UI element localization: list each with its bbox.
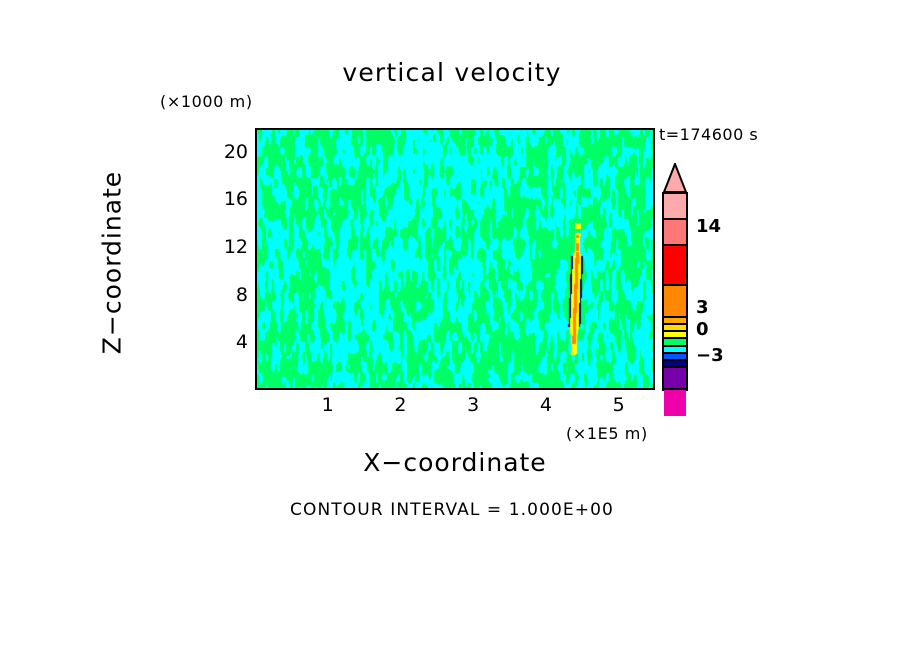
colorbar-tick-labels: 1430−3: [688, 163, 768, 391]
x-tick-label: 4: [526, 396, 566, 415]
colorbar-band: [664, 354, 686, 361]
colorbar-tick-label: 14: [696, 218, 721, 236]
contour-interval-label: CONTOUR INTERVAL = 1.000E+00: [0, 500, 904, 520]
colorbar-band: [664, 339, 686, 347]
colorbar-band: [664, 246, 686, 286]
x-tick-label: 3: [453, 396, 493, 415]
colorbar-band: [664, 368, 686, 390]
colorbar-tick-label: 3: [696, 299, 709, 317]
y-tick-label: 16: [224, 190, 248, 209]
colorbar-tick-label: 0: [696, 321, 709, 339]
y-tick-label: 8: [236, 286, 248, 305]
vertical-velocity-field: [257, 130, 653, 388]
colorbar-band: [664, 318, 686, 325]
x-tick-label: 2: [380, 396, 420, 415]
x-tick-label: 5: [599, 396, 639, 415]
colorbar-bands: [662, 192, 688, 391]
colorbar-band: [664, 332, 686, 339]
colorbar-band: [664, 347, 686, 354]
timestamp-label: t=174600 s: [659, 125, 758, 144]
colorbar-band: [664, 325, 686, 332]
x-axis-title: X−coordinate: [255, 448, 655, 477]
colorbar-band: [664, 194, 686, 220]
x-axis-units-label: (×1E5 m): [566, 424, 648, 443]
y-axis-title: Z−coordinate: [98, 113, 127, 413]
y-axis-units-label: (×1000 m): [160, 92, 253, 111]
y-tick-label: 12: [224, 238, 248, 257]
x-tick-label: 1: [308, 396, 348, 415]
colorbar-band: [664, 390, 686, 416]
y-tick-label: 4: [236, 333, 248, 352]
y-axis-ticks: 48121620: [210, 128, 248, 390]
y-tick-label: 20: [224, 143, 248, 162]
page-title: vertical velocity: [0, 58, 904, 87]
contour-plot-area: [255, 128, 655, 390]
colorbar: [662, 163, 688, 391]
colorbar-arrow-icon: [662, 163, 688, 193]
colorbar-band: [664, 220, 686, 246]
colorbar-band: [664, 286, 686, 318]
x-axis-ticks: 12345: [255, 396, 655, 420]
colorbar-band: [664, 361, 686, 368]
colorbar-tick-label: −3: [696, 347, 724, 365]
